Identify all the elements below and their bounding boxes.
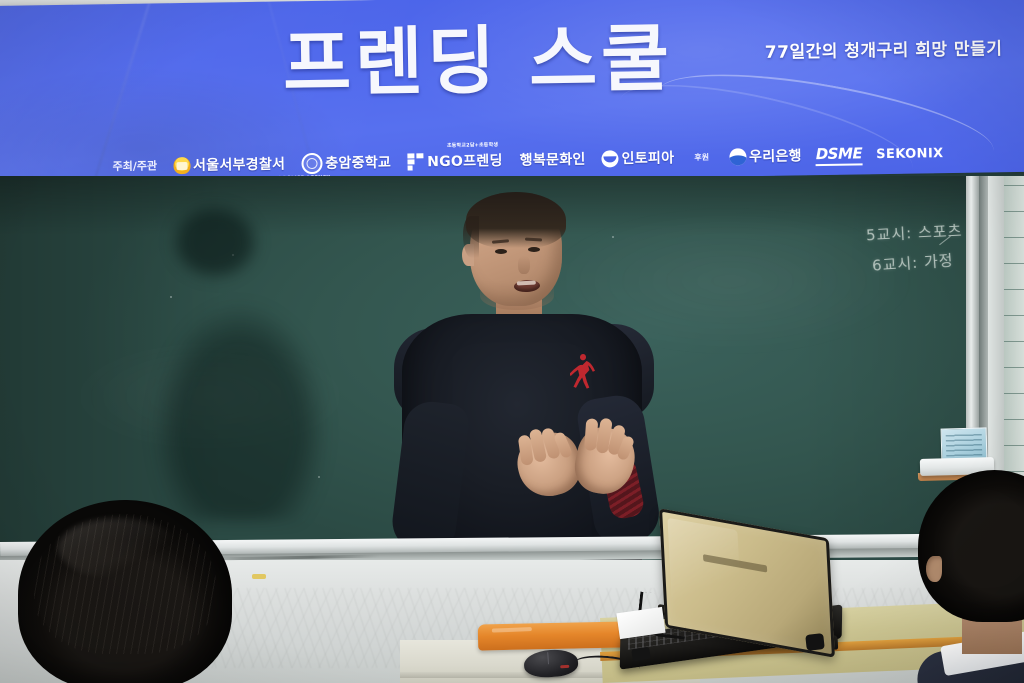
school-crest-icon (301, 152, 322, 173)
banner-subtitle: 77일간의 청개구리 희망 만들기 (765, 34, 1003, 63)
sponsor-chungam-middle-school: 충암중학교 (325, 152, 391, 173)
presenter-eye (495, 249, 507, 254)
student-hair-sheen (58, 518, 178, 578)
student-hair (918, 470, 1024, 622)
banner-title: 프렌딩 스쿨 (282, 21, 673, 101)
supporter-woori-bank: 우리은행 (749, 145, 802, 166)
woori-bank-icon (729, 148, 746, 165)
organizer-label: 주최/주관 (112, 157, 157, 174)
chalk-dust-speck (318, 476, 320, 478)
supporter-sekonix: SEKONIX (876, 146, 944, 162)
sponsor-happy-culture: 행복문화인 (520, 149, 586, 170)
frending-school-banner: 프렌딩 스쿨 77일간의 청개구리 희망 만들기 주최/주관 서울서부경찰서 S… (0, 0, 1024, 188)
support-label: 후원 (694, 151, 709, 162)
sponsor-seoul-police: 서울서부경찰서 SEOUL METROPOLITAN POLICE AGENCY (193, 153, 286, 174)
intopia-icon (601, 150, 618, 167)
presenter-nose (518, 256, 530, 274)
chair-highlight (492, 627, 532, 633)
sponsor-name: 서울서부경찰서 (193, 153, 286, 174)
presenter-eye (528, 247, 540, 252)
chalk-dust-speck (232, 254, 234, 256)
sponsor-ngo-frending: NGO프렌딩 초등학교2담+초등학생 (427, 150, 503, 171)
samsung-laptop[interactable] (610, 524, 870, 674)
classroom-photo-scene: 프렌딩 스쿨 77일간의 청개구리 희망 만들기 주최/주관 서울서부경찰서 S… (0, 0, 1024, 683)
ngo-blocks-icon (407, 153, 424, 170)
student-foreground-right (898, 470, 1024, 683)
orange-classroom-chair[interactable] (478, 621, 627, 650)
sponsor-sub-en: 초등학교2담+초등학생 (447, 141, 498, 149)
mouse-led (560, 665, 569, 669)
mouse-button-split (547, 652, 549, 664)
supporter-dsme: DSME (816, 144, 863, 166)
jumpman-logo (570, 352, 596, 392)
student-ear (926, 556, 942, 582)
chalk-smear (60, 336, 360, 456)
chalk-dust-speck (170, 296, 172, 298)
presenter-hair (466, 192, 566, 248)
police-emblem-icon (173, 156, 190, 173)
student-foreground-left (18, 500, 232, 683)
tray-yellow-mark (252, 574, 266, 579)
sponsor-intopia: 인토피아 (621, 147, 674, 168)
laptop-plug (805, 633, 825, 651)
sponsor-name: NGO프렌딩 (427, 150, 503, 171)
card-text-lines (946, 434, 983, 457)
